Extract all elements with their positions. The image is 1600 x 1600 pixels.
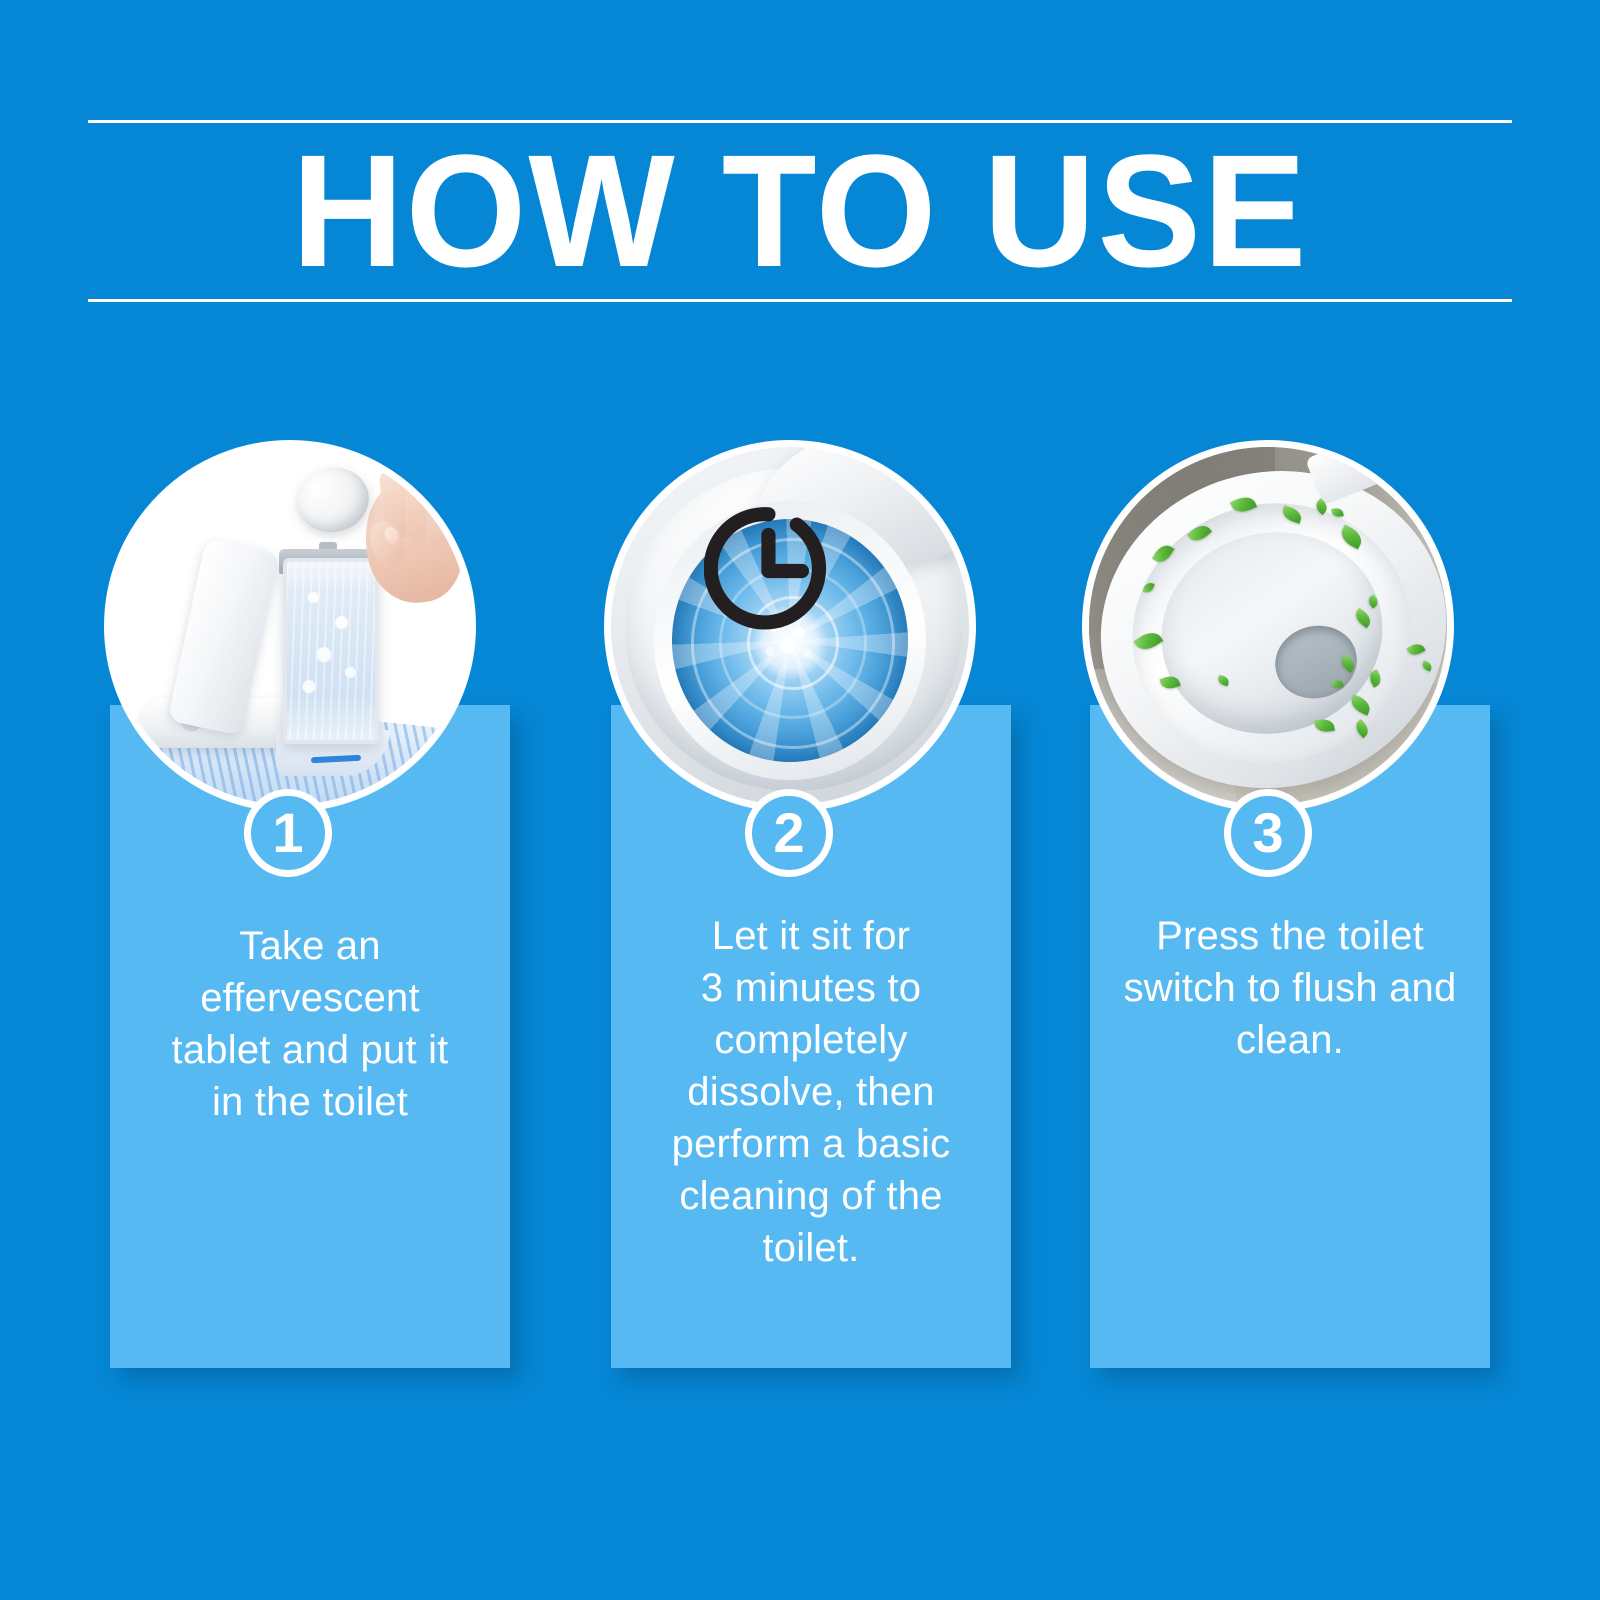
step-3-description: Press the toilet switch to flush and cle…: [1090, 910, 1490, 1066]
step-badge-3: 3: [1224, 789, 1312, 877]
clock-icon: [704, 504, 833, 633]
title-rule-bottom: [88, 299, 1512, 302]
infographic-canvas: HOW TO USE Take an effervescent tablet a…: [0, 0, 1600, 1600]
step-1-image: [104, 440, 476, 812]
step-2-image: [604, 440, 976, 812]
step-1-description: Take an effervescent tablet and put it i…: [110, 920, 510, 1128]
step-3-image: [1082, 440, 1454, 812]
step-1-photo-tablet-into-cistern: [111, 447, 469, 805]
step-badge-1: 1: [244, 789, 332, 877]
step-badge-2: 2: [745, 789, 833, 877]
step-2-description: Let it sit for 3 minutes to completely d…: [611, 910, 1011, 1274]
page-title: HOW TO USE: [24, 128, 1576, 293]
step-2-photo-dissolving-tablet: [611, 447, 969, 805]
step-3-photo-clean-toilet-with-mint: [1089, 447, 1447, 805]
